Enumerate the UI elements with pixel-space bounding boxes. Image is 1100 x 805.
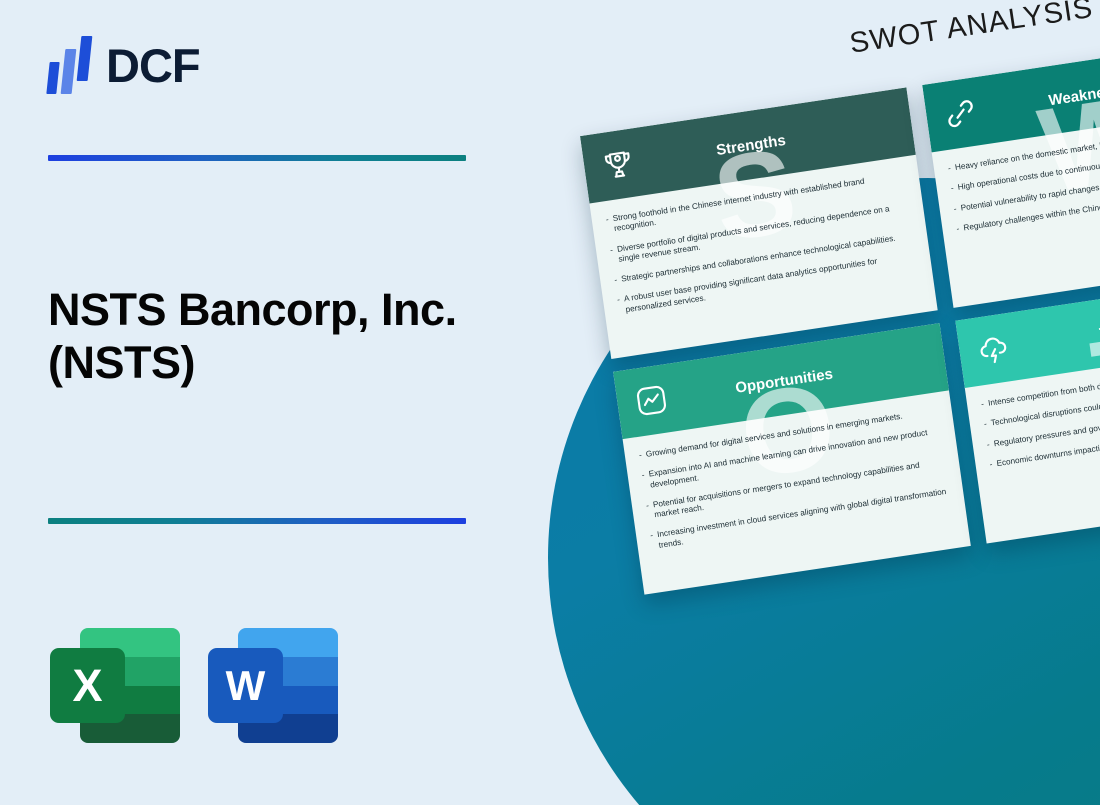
file-download-icons: X W [50, 620, 338, 750]
card-title-opportunities: Opportunities [668, 351, 929, 407]
brand-name: DCF [106, 42, 200, 89]
swot-graphic: SWOT ANALYSIS Strengths S Strong fo [470, 0, 1100, 805]
word-icon[interactable]: W [208, 620, 338, 750]
divider-top [48, 155, 466, 161]
swot-card-threats: Threats T Intense competition from both … [955, 272, 1100, 544]
left-panel: DCF NSTS Bancorp, Inc. (NSTS) X W [0, 0, 560, 805]
swot-heading: SWOT ANALYSIS [848, 0, 1100, 61]
excel-icon-letter: X [50, 648, 125, 723]
swot-card-grid: Strengths S Strong foothold in the Chine… [580, 45, 1100, 612]
card-title-threats: Threats [1010, 300, 1100, 356]
swot-card-opportunities: Opportunities O Growing demand for digit… [613, 323, 971, 595]
card-title-strengths: Strengths [635, 115, 896, 171]
trend-chart-icon [631, 380, 672, 421]
card-title-weaknesses: Weaknesses [977, 64, 1100, 120]
excel-icon[interactable]: X [50, 620, 180, 750]
divider-bottom [48, 518, 466, 524]
trophy-icon [598, 144, 639, 185]
bar-chart-logo-icon [48, 36, 92, 94]
page-title: NSTS Bancorp, Inc. (NSTS) [48, 283, 478, 389]
swot-card-strengths: Strengths S Strong foothold in the Chine… [580, 87, 938, 359]
brand-logo[interactable]: DCF [48, 36, 200, 94]
word-icon-letter: W [208, 648, 283, 723]
swot-card-weaknesses: Weaknesses W Heavy reliance on the domes… [922, 36, 1100, 308]
storm-cloud-icon [973, 329, 1014, 370]
broken-link-icon [940, 93, 981, 134]
